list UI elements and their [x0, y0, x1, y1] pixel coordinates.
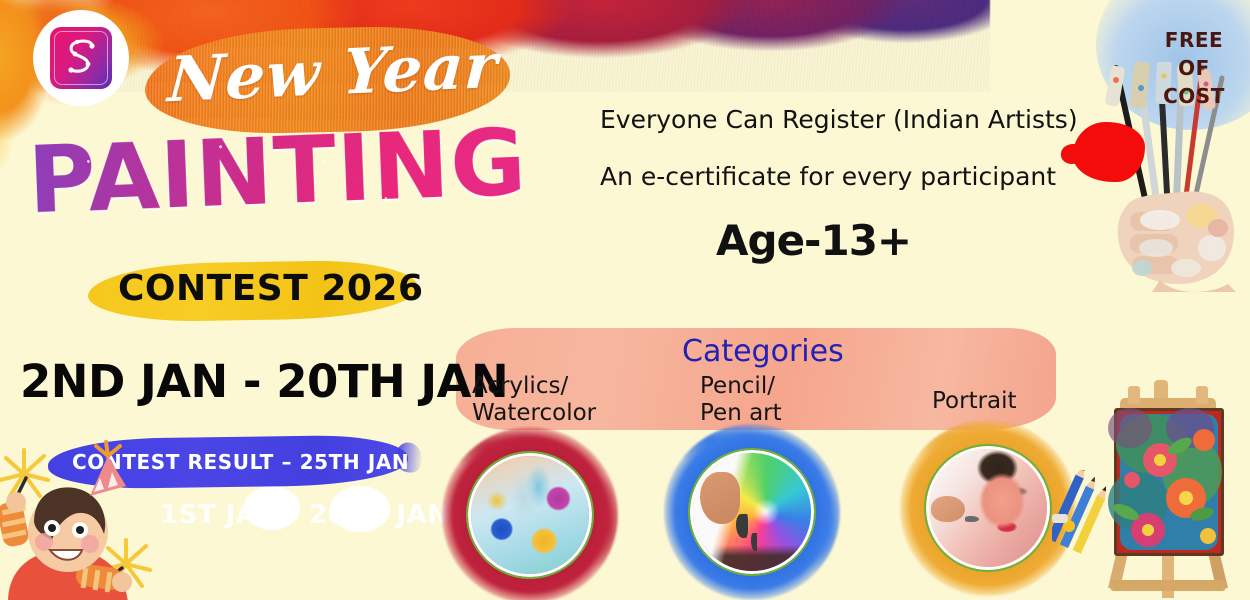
badge-line-1: FREE OF: [1148, 26, 1240, 82]
category-label-line-1: Pencil/: [700, 373, 782, 400]
floral-acrylic-painting-image: [471, 456, 589, 574]
category-image-pencil-pen-art: [672, 432, 832, 592]
badge-line-2: COST: [1148, 82, 1240, 110]
logo-badge: [50, 27, 112, 89]
category-label-acrylics-watercolor: Acrylics/ Watercolor: [472, 373, 596, 427]
painting-contest-banner: New Year PAINTING CONTEST 2026 2ND JAN -…: [0, 0, 1250, 600]
category-label-portrait: Portrait: [932, 388, 1017, 415]
portrait-painting-image: [929, 449, 1047, 567]
child-with-sparklers-illustration: [0, 440, 174, 600]
category-image-acrylics-watercolor: [450, 435, 610, 595]
contest-date-range: 2ND JAN - 20TH JAN: [20, 355, 508, 408]
categories-title: Categories: [682, 334, 844, 369]
category-photo: [926, 446, 1050, 570]
rainbow-spiral-drawing-image: [693, 453, 811, 571]
brand-logo[interactable]: [33, 10, 129, 106]
category-label-line-1: Portrait: [932, 388, 1017, 415]
category-label-line-1: Acrylics/: [472, 373, 596, 400]
age-requirement: Age-13+: [716, 216, 911, 265]
category-photo: [690, 450, 814, 574]
info-certificate-line: An e-certificate for every participant: [600, 162, 1056, 191]
category-label-line-2: Pen art: [700, 400, 782, 427]
headline-painting: PAINTING: [26, 108, 529, 234]
white-blob-decoration: [330, 486, 390, 532]
easel-with-floral-painting: [1086, 352, 1250, 600]
faded-date-range: 1ST JAN - 20TH JAN: [160, 500, 449, 530]
category-image-portrait: [908, 428, 1068, 588]
logo-s-icon: [61, 37, 101, 79]
headline-script-new-year: New Year: [166, 29, 500, 117]
free-of-cost-badge: FREE OF COST: [1148, 26, 1240, 110]
info-register-line: Everyone Can Register (Indian Artists): [600, 105, 1078, 134]
category-label-line-2: Watercolor: [472, 400, 596, 427]
red-paint-splash: [1073, 122, 1145, 182]
white-blob-decoration: [244, 486, 300, 530]
category-label-pencil-pen-art: Pencil/ Pen art: [700, 373, 782, 427]
category-photo: [468, 453, 592, 577]
headline-subtitle-contest-2026: CONTEST 2026: [118, 268, 424, 309]
